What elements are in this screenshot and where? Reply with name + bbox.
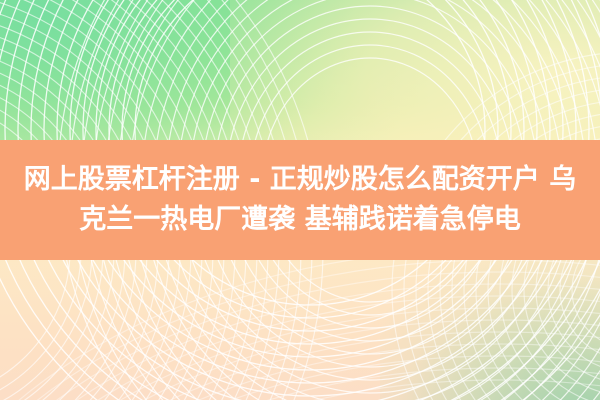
background-mint-corner-bottom-right [380,260,600,400]
headline-band: 网上股票杠杆注册 - 正规炒股怎么配资开户 乌克兰一热电厂遭袭 基辅践诺着急停电 [0,140,600,260]
banner-graphic: 网上股票杠杆注册 - 正规炒股怎么配资开户 乌克兰一热电厂遭袭 基辅践诺着急停电 [0,0,600,400]
banner-headline: 网上股票杠杆注册 - 正规炒股怎么配资开户 乌克兰一热电厂遭袭 基辅践诺着急停电 [20,160,580,240]
